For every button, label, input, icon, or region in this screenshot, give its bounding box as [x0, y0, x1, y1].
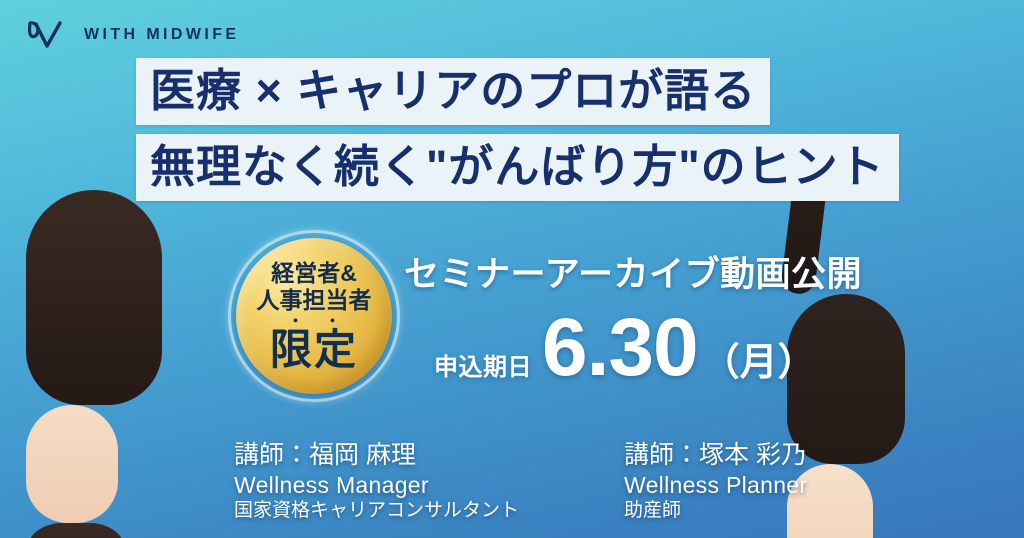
presenter-name: 講師：福岡 麻理 — [234, 440, 519, 471]
presenter-qualification: 国家資格キャリアコンサルタント — [234, 499, 519, 523]
headline: 医療 × キャリアのプロが語る 無理なく続く"がんばり方"のヒント — [136, 58, 899, 201]
badge-main-label: 限定 — [270, 328, 358, 372]
deadline-date: 6.30 — [542, 310, 698, 385]
with-midwife-w-mark-icon — [26, 18, 70, 52]
deadline-weekday: （月） — [702, 331, 816, 386]
application-deadline: 申込期日 6.30 （月） — [434, 310, 816, 386]
presenter-caption-right: 講師：塚本 彩乃 Wellness Planner 助産師 — [624, 440, 807, 523]
presenter-role: Wellness Planner — [624, 471, 807, 500]
headline-line-1: 医療 × キャリアのプロが語る — [136, 58, 770, 125]
audience-restriction-badge: 経営者& 人事担当者 ・・ 限定 — [228, 230, 400, 402]
right-presenter-photo — [787, 176, 1002, 538]
seminar-promo-banner: WITH MIDWIFE 医療 × キャリアのプロが語る 無理なく続く"がんばり… — [0, 0, 1024, 538]
badge-line-2: 人事担当者 — [257, 287, 372, 314]
presenter-name: 講師：塚本 彩乃 — [624, 440, 807, 471]
deadline-label: 申込期日 — [434, 347, 532, 382]
photo-part-hair — [26, 190, 162, 405]
brand-logo: WITH MIDWIFE — [26, 18, 239, 52]
headline-line-2: 無理なく続く"がんばり方"のヒント — [136, 134, 899, 201]
presenter-role: Wellness Manager — [234, 471, 519, 500]
brand-name: WITH MIDWIFE — [84, 26, 239, 44]
badge-disc: 経営者& 人事担当者 ・・ 限定 — [236, 238, 392, 394]
presenter-qualification: 助産師 — [624, 499, 807, 523]
seminar-title: セミナーアーカイブ動画公開 — [404, 246, 862, 297]
badge-line-1: 経営者& — [271, 260, 357, 287]
presenter-caption-left: 講師：福岡 麻理 Wellness Manager 国家資格キャリアコンサルタン… — [234, 440, 519, 523]
photo-part-face — [26, 405, 118, 523]
photo-part-fringe — [26, 523, 126, 538]
